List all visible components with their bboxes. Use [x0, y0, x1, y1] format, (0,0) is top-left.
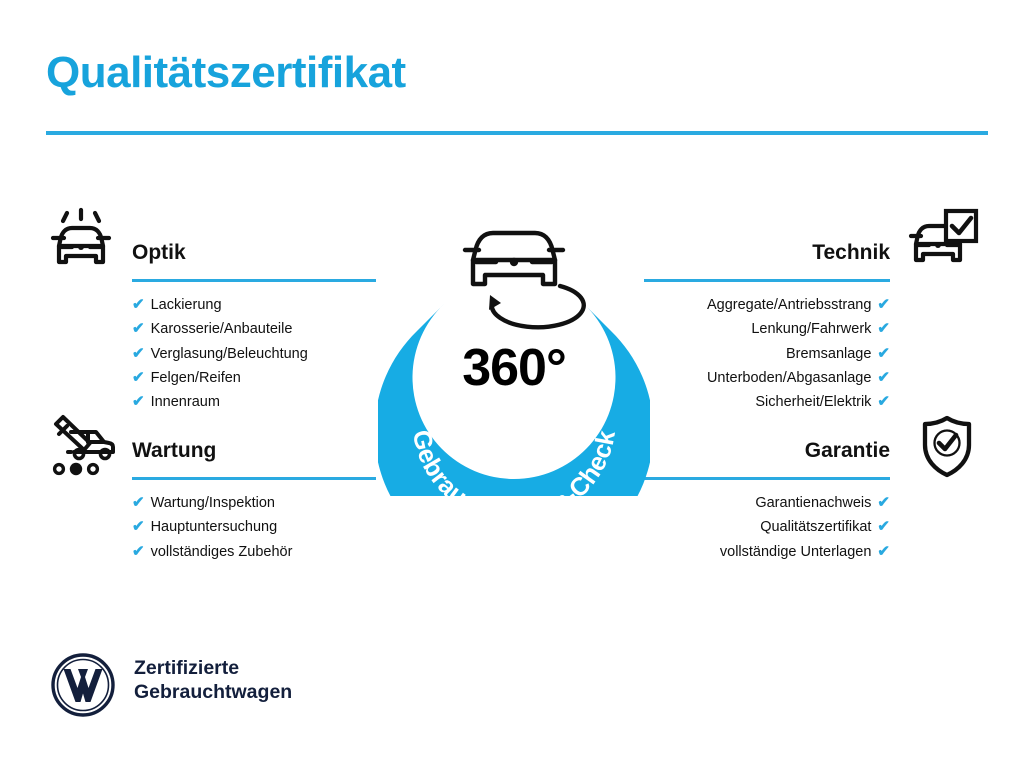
car-shine-icon [44, 206, 118, 276]
list-item: ✔Felgen/Reifen [132, 366, 376, 390]
section-technik: Technik Aggregate/Antriebsstrang✔ Lenkun… [644, 238, 890, 414]
rotation-arrow-head [489, 295, 501, 310]
list-item: Aggregate/Antriebsstrang✔ [644, 293, 890, 317]
section-underline [132, 279, 376, 282]
check-icon: ✔ [132, 390, 145, 414]
wrench-car-icon [44, 410, 118, 480]
list-item: ✔Wartung/Inspektion [132, 491, 376, 515]
list-item-label: Lenkung/Fahrwerk [751, 317, 871, 341]
list-item-label: Hauptuntersuchung [151, 515, 278, 539]
list-item-label: Aggregate/Antriebsstrang [707, 293, 871, 317]
check-icon: ✔ [132, 317, 145, 341]
list-item: ✔Verglasung/Beleuchtung [132, 342, 376, 366]
car-rotate-icon [465, 233, 584, 327]
list-item: Bremsanlage✔ [644, 342, 890, 366]
section-title: Optik [132, 238, 376, 268]
list-item: Sicherheit/Elektrik✔ [644, 390, 890, 414]
check-icon: ✔ [132, 540, 145, 564]
section-header: Garantie [644, 436, 890, 480]
list-item: ✔Innenraum [132, 390, 376, 414]
check-icon: ✔ [877, 491, 890, 515]
list-item-label: Unterboden/Abgasanlage [707, 366, 871, 390]
list-item-label: Lackierung [151, 293, 222, 317]
list-item-label: Felgen/Reifen [151, 366, 241, 390]
list-item: ✔Lackierung [132, 293, 376, 317]
footer-logo-group: Zertifizierte Gebrauchtwagen [50, 648, 380, 720]
title-divider [46, 131, 988, 135]
section-title: Garantie [644, 436, 890, 466]
list-item-label: Wartung/Inspektion [151, 491, 275, 515]
checklist: ✔Wartung/Inspektion ✔Hauptuntersuchung ✔… [132, 491, 376, 564]
check-icon: ✔ [877, 317, 890, 341]
list-item: ✔Karosserie/Anbauteile [132, 317, 376, 341]
section-header: Wartung [132, 436, 376, 480]
list-item: Garantienachweis✔ [644, 491, 890, 515]
list-item-label: Sicherheit/Elektrik [755, 390, 871, 414]
check-icon: ✔ [132, 491, 145, 515]
section-underline [644, 477, 890, 480]
page-title: Qualitätszertifikat [46, 48, 406, 98]
list-item-label: Bremsanlage [786, 342, 871, 366]
footer-text: Zertifizierte Gebrauchtwagen [134, 656, 292, 704]
section-garantie: Garantie Garantienachweis✔ Qualitätszert… [644, 436, 890, 564]
checklist: ✔Lackierung ✔Karosserie/Anbauteile ✔Verg… [132, 293, 376, 414]
section-title: Wartung [132, 436, 376, 466]
section-underline [132, 477, 376, 480]
badge-360-gebrauchtwagen-check: Gebrauchtwagen-Check 3 [378, 196, 650, 496]
certificate-page: Qualitätszertifikat [0, 0, 1024, 768]
check-icon: ✔ [132, 342, 145, 366]
list-item: ✔vollständiges Zubehör [132, 540, 376, 564]
check-icon: ✔ [132, 293, 145, 317]
section-optik: Optik ✔Lackierung ✔Karosserie/Anbauteile… [132, 238, 376, 414]
section-header: Optik [132, 238, 376, 282]
check-icon: ✔ [877, 540, 890, 564]
checklist: Aggregate/Antriebsstrang✔ Lenkung/Fahrwe… [644, 293, 890, 414]
car-checkbox-icon [906, 206, 980, 276]
list-item-label: Karosserie/Anbauteile [151, 317, 293, 341]
section-title: Technik [644, 238, 890, 268]
list-item: Unterboden/Abgasanlage✔ [644, 366, 890, 390]
check-icon: ✔ [132, 515, 145, 539]
checklist: Garantienachweis✔ Qualitätszertifikat✔ v… [644, 491, 890, 564]
list-item-label: Verglasung/Beleuchtung [151, 342, 308, 366]
list-item: Lenkung/Fahrwerk✔ [644, 317, 890, 341]
vw-logo [50, 652, 116, 718]
list-item-label: Qualitätszertifikat [760, 515, 871, 539]
check-icon: ✔ [877, 342, 890, 366]
list-item: vollständige Unterlagen✔ [644, 540, 890, 564]
section-underline [644, 279, 890, 282]
check-icon: ✔ [877, 366, 890, 390]
list-item-label: vollständiges Zubehör [151, 540, 293, 564]
list-item: ✔Hauptuntersuchung [132, 515, 376, 539]
check-icon: ✔ [877, 293, 890, 317]
check-icon: ✔ [132, 366, 145, 390]
section-header: Technik [644, 238, 890, 282]
section-wartung: Wartung ✔Wartung/Inspektion ✔Hauptunters… [132, 436, 376, 564]
list-item-label: Garantienachweis [755, 491, 871, 515]
check-icon: ✔ [877, 390, 890, 414]
list-item-label: Innenraum [151, 390, 220, 414]
shield-check-icon [910, 412, 984, 482]
footer-line-1: Zertifizierte [134, 656, 292, 680]
footer-line-2: Gebrauchtwagen [134, 680, 292, 704]
list-item: Qualitätszertifikat✔ [644, 515, 890, 539]
check-icon: ✔ [877, 515, 890, 539]
badge-number: 360° [378, 338, 650, 398]
list-item-label: vollständige Unterlagen [720, 540, 872, 564]
